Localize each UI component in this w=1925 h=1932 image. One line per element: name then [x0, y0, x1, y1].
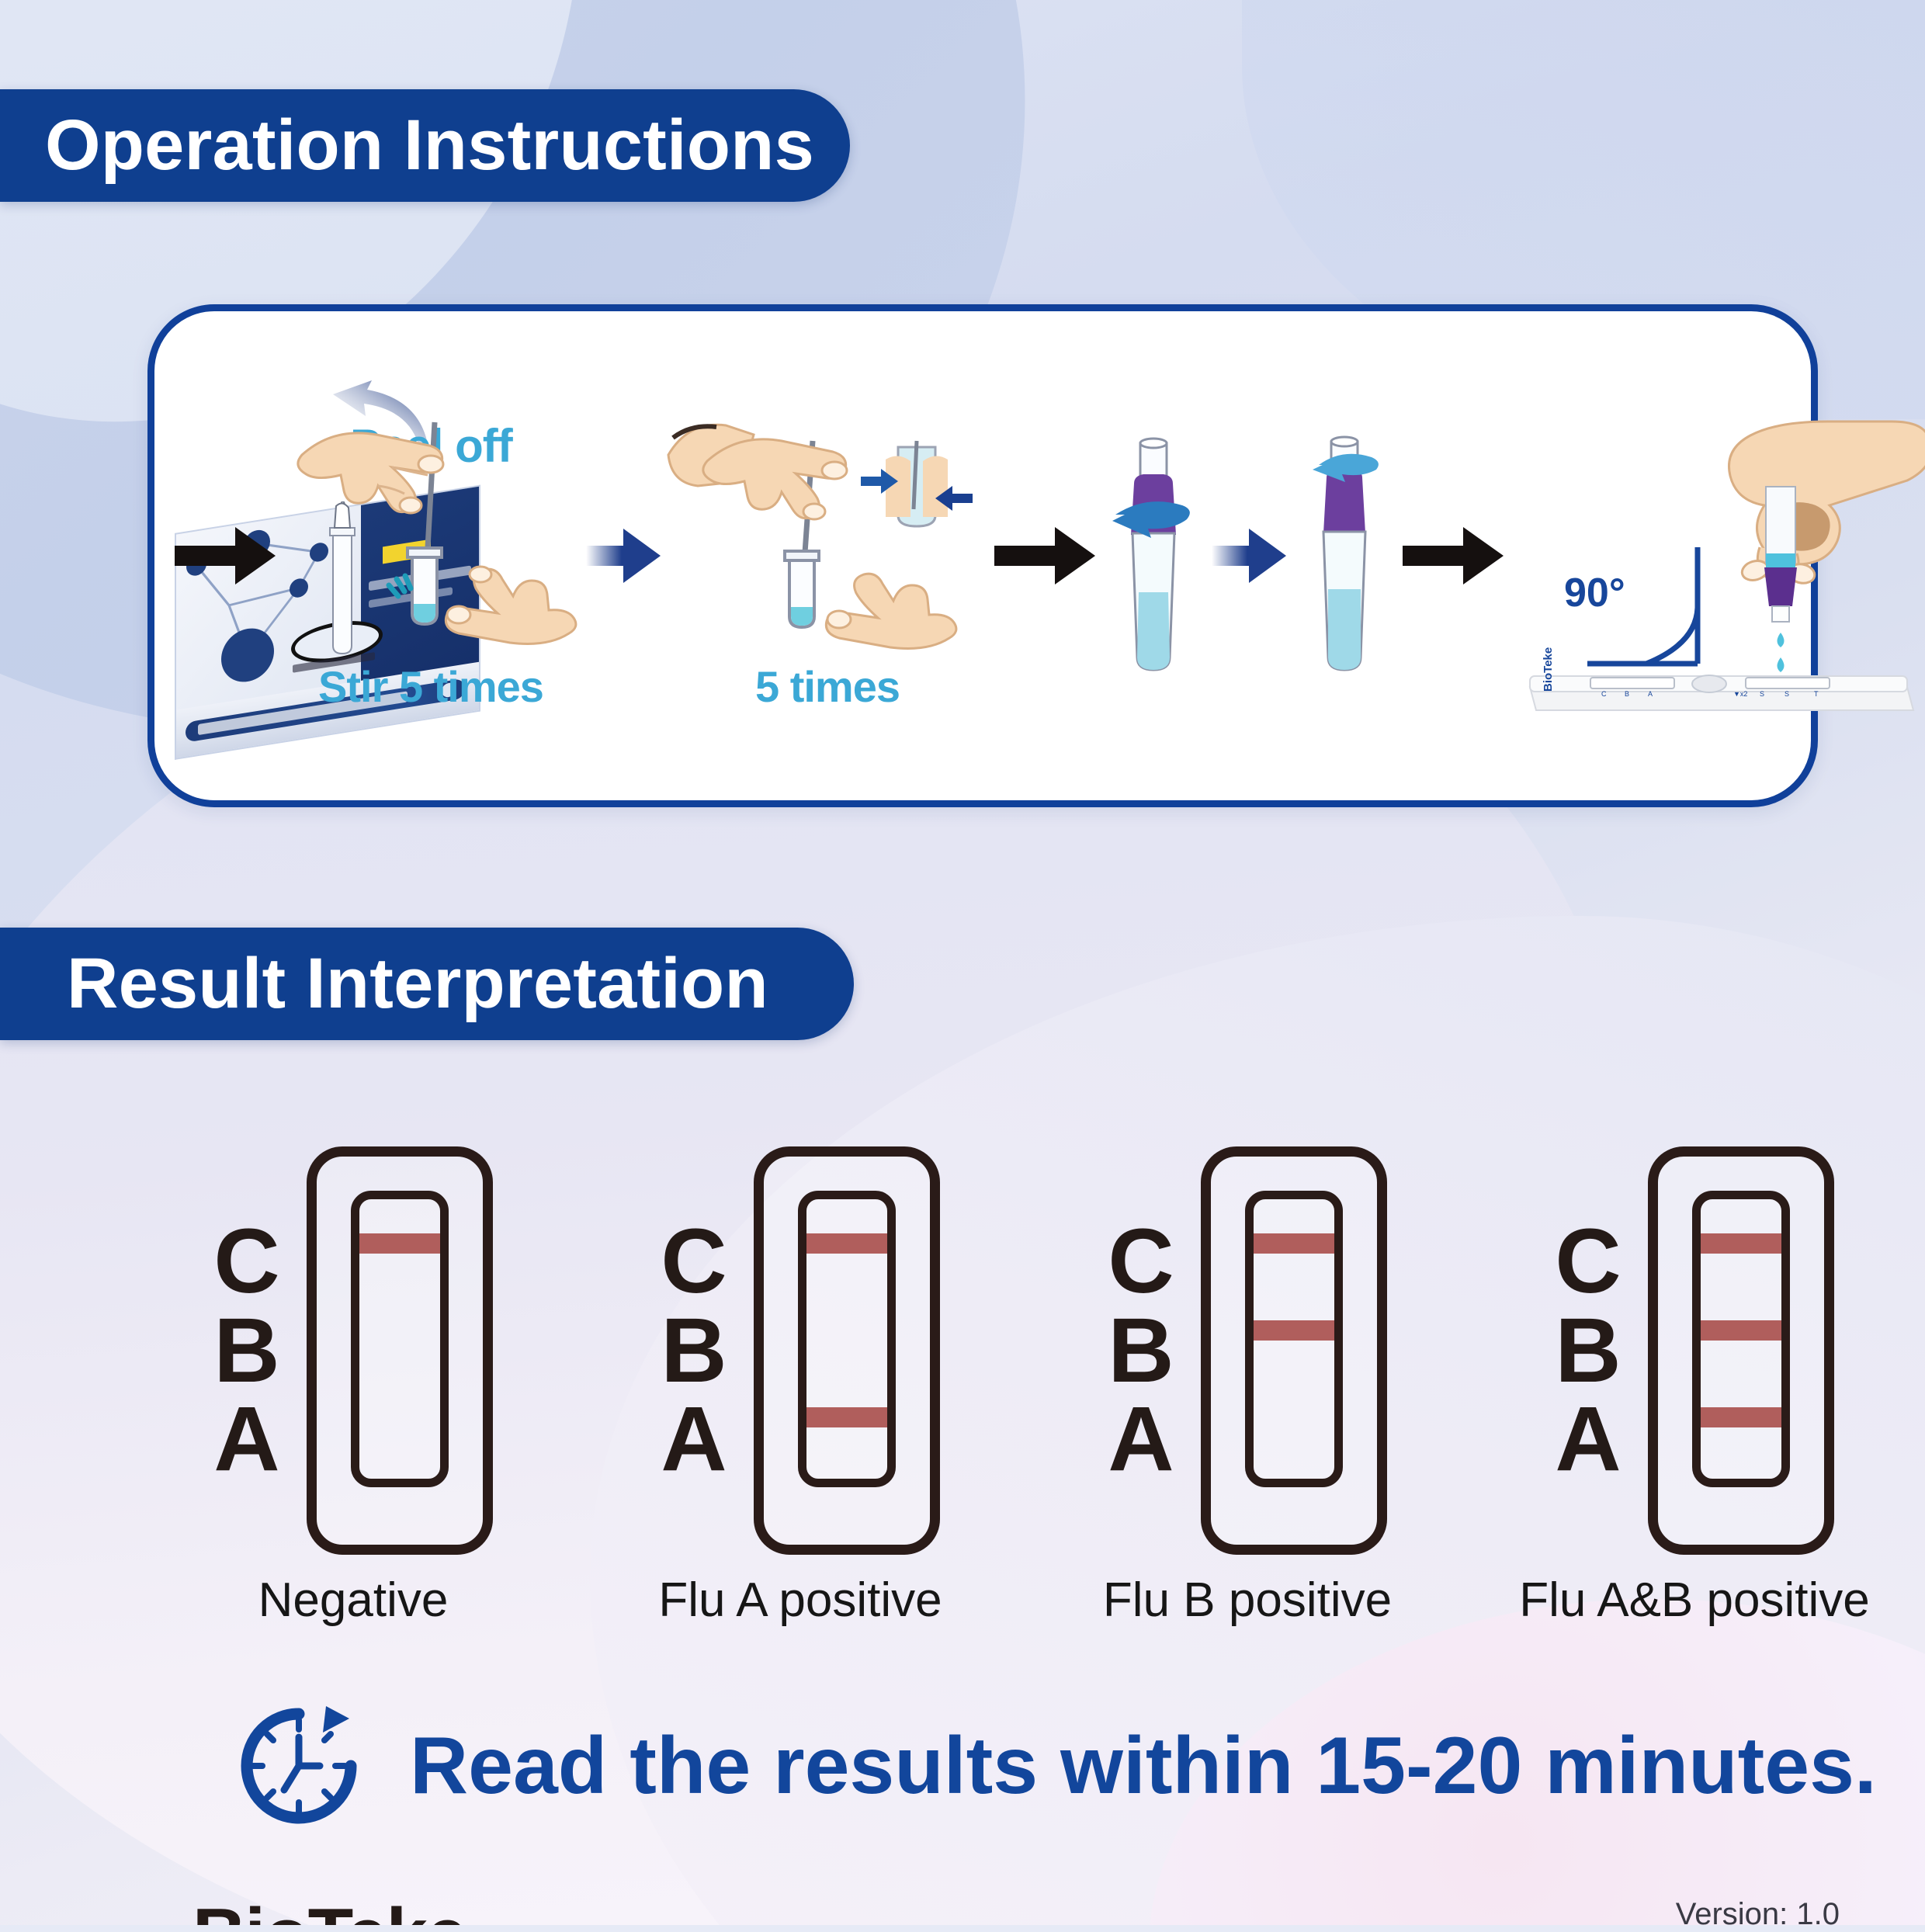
band-a — [1701, 1407, 1781, 1427]
tube-cap-loose-icon — [1095, 428, 1212, 684]
result-label: Flu A positive — [658, 1573, 942, 1628]
letter-c: C — [213, 1217, 279, 1306]
svg-text:C: C — [1601, 690, 1607, 698]
result-window — [798, 1191, 896, 1487]
result-cards: C B A Negative C B A — [0, 1149, 1925, 1646]
read-results-notice: Read the results within 15-20 minutes. — [233, 1692, 1877, 1840]
step-stir-label: Stir 5 times — [318, 661, 543, 712]
tube-cap-closed-icon — [1286, 428, 1403, 684]
letter-a: A — [661, 1395, 727, 1483]
arrow-right-blue-icon — [586, 527, 661, 584]
cba-letters: C B A — [213, 1217, 279, 1483]
band-c — [1254, 1233, 1334, 1254]
letter-a: A — [1108, 1395, 1174, 1483]
step-cap-tube — [1095, 373, 1403, 738]
hands-squeeze-tube-icon — [661, 401, 994, 657]
letter-b: B — [661, 1306, 727, 1395]
operation-instructions-panel: Peel off — [147, 304, 1818, 807]
cba-letters: C B A — [1108, 1217, 1174, 1483]
result-card-flu-b: C B A Flu B positive — [1080, 1149, 1414, 1646]
band-c — [359, 1233, 440, 1254]
result-label: Flu A&B positive — [1519, 1573, 1869, 1628]
svg-text:B: B — [1625, 690, 1629, 698]
result-window — [351, 1191, 449, 1487]
cassette-outline — [754, 1146, 940, 1555]
result-window — [1245, 1191, 1343, 1487]
band-b — [1254, 1320, 1334, 1341]
step-squeeze-label: 5 times — [755, 661, 900, 712]
letter-b: B — [1555, 1306, 1621, 1395]
letter-c: C — [1555, 1217, 1621, 1306]
cassette-outline — [1201, 1146, 1387, 1555]
result-label: Flu B positive — [1103, 1573, 1392, 1628]
arrow-right-black-icon — [175, 527, 276, 584]
instruction-steps: Peel off — [154, 311, 1811, 800]
svg-text:▼x2: ▼x2 — [1733, 690, 1747, 698]
letter-c: C — [1108, 1217, 1174, 1306]
step-squeeze: 5 times — [661, 373, 994, 738]
result-window — [1692, 1191, 1790, 1487]
read-results-text: Read the results within 15-20 minutes. — [410, 1720, 1877, 1812]
arrow-right-black-icon-3 — [1403, 527, 1504, 584]
band-c — [806, 1233, 887, 1254]
angle-label: 90° — [1564, 571, 1625, 616]
svg-text:T: T — [1814, 690, 1819, 698]
band-a — [806, 1407, 887, 1427]
result-interpretation-title: Result Interpretation — [0, 943, 768, 1025]
clock-icon — [233, 1700, 365, 1832]
hand-dropper-cassette-icon: 90° BioTeke C — [1504, 387, 1925, 725]
svg-text:S: S — [1760, 690, 1764, 698]
svg-text:S: S — [1785, 690, 1789, 698]
letter-c: C — [661, 1217, 727, 1306]
letter-b: B — [1108, 1306, 1174, 1395]
step-dispense: 90° BioTeke C — [1504, 373, 1925, 738]
cba-letters: C B A — [661, 1217, 727, 1483]
cassette-brand-label: BioTeke — [1542, 647, 1555, 691]
band-b — [1701, 1320, 1781, 1341]
cba-letters: C B A — [1555, 1217, 1621, 1483]
result-interpretation-banner: Result Interpretation — [0, 928, 854, 1040]
operation-instructions-banner: Operation Instructions — [0, 89, 850, 202]
result-card-flu-a: C B A Flu A positive — [633, 1149, 967, 1646]
result-card-negative: C B A Negative — [186, 1149, 520, 1646]
arrow-right-black-icon-2 — [994, 527, 1095, 584]
extraction-tube-icon — [319, 501, 366, 657]
operation-instructions-title: Operation Instructions — [0, 105, 814, 186]
brand-logo: BioTeke — [192, 1892, 466, 1925]
result-card-flu-ab: C B A Flu A&B positive — [1528, 1149, 1861, 1646]
version-label: Version: 1.0 — [1676, 1897, 1840, 1932]
letter-b: B — [213, 1306, 279, 1395]
svg-text:A: A — [1648, 690, 1653, 698]
result-label: Negative — [258, 1573, 449, 1628]
cassette-outline — [307, 1146, 493, 1555]
letter-a: A — [213, 1395, 279, 1483]
letter-a: A — [1555, 1395, 1621, 1483]
cassette-outline — [1648, 1146, 1834, 1555]
arrow-right-blue-icon-2 — [1212, 527, 1286, 584]
band-c — [1701, 1233, 1781, 1254]
